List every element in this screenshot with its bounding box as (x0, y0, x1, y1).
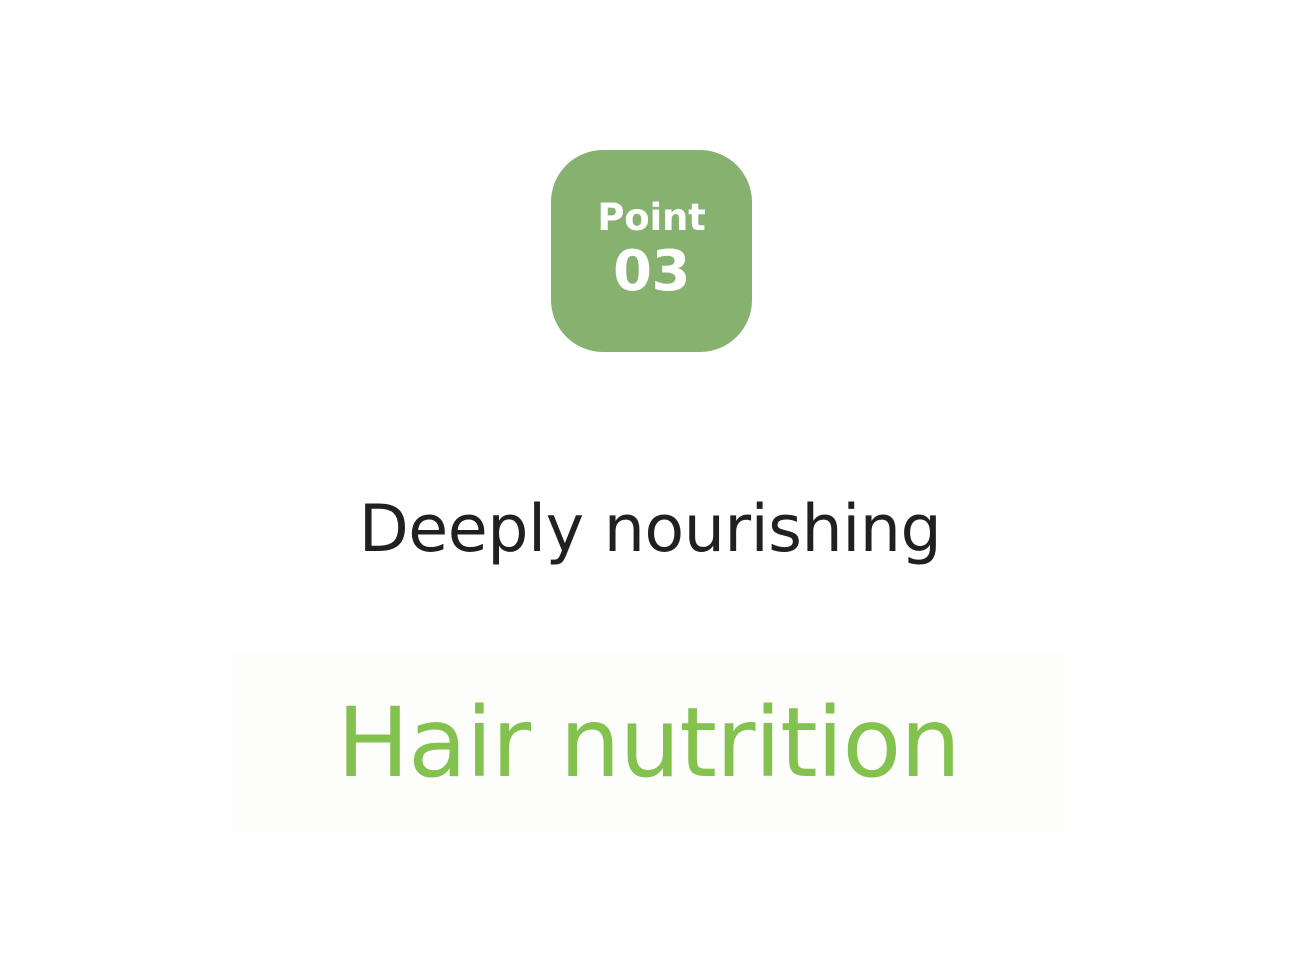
headline-text: Deeply nourishing (0, 497, 1300, 562)
slide-canvas: Point 03 Deeply nourishing Hair nutritio… (0, 0, 1300, 957)
badge-number: 03 (613, 244, 690, 300)
point-badge: Point 03 (551, 150, 752, 352)
subheading-backing-box: Hair nutrition (232, 653, 1065, 832)
badge-label: Point (597, 199, 705, 236)
subheading-text: Hair nutrition (337, 695, 960, 791)
